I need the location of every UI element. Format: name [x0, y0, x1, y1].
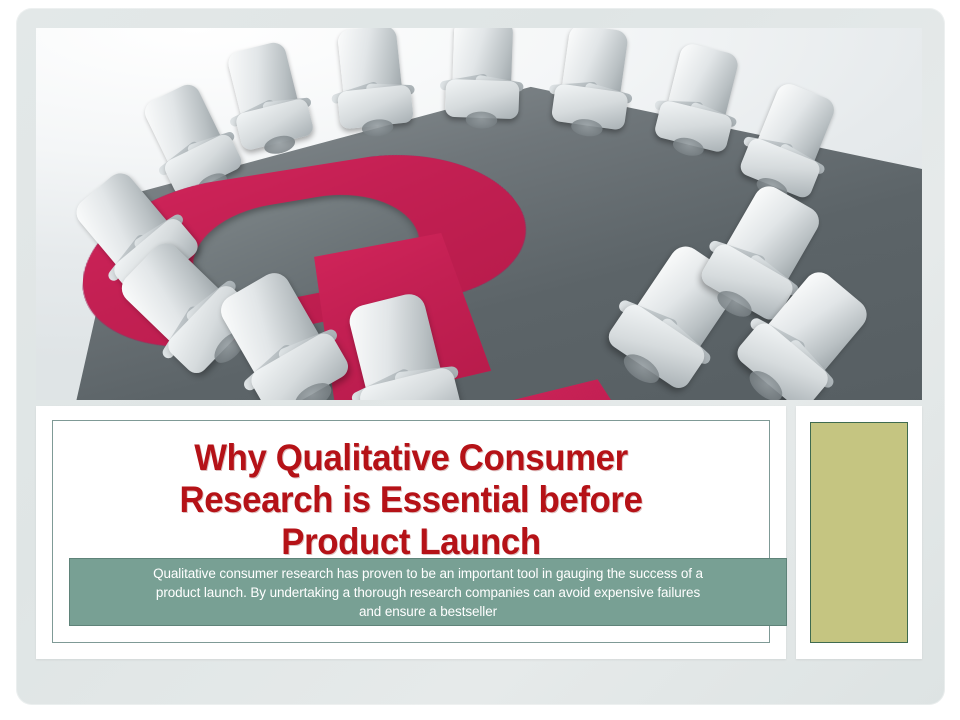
slide-root: Why Qualitative Consumer Research is Ess… [0, 0, 960, 720]
subtitle-line-1: Qualitative consumer research has proven… [153, 564, 703, 583]
boardroom-question-mark-photo [36, 28, 922, 400]
page-title: Why Qualitative Consumer Research is Ess… [74, 437, 747, 563]
title-line-3: Product Launch [74, 521, 747, 563]
office-chair [328, 28, 417, 144]
olive-accent-panel [810, 422, 908, 643]
title-box: Why Qualitative Consumer Research is Ess… [52, 420, 770, 643]
title-line-2: Research is Essential before [74, 479, 747, 521]
side-accent-card [796, 406, 922, 659]
subtitle-text: Qualitative consumer research has proven… [153, 564, 703, 621]
subtitle-line-3: and ensure a bestseller [153, 602, 703, 621]
subtitle-band: Qualitative consumer research has proven… [69, 558, 787, 626]
subtitle-line-2: product launch. By undertaking a thoroug… [153, 583, 703, 602]
title-card: Why Qualitative Consumer Research is Ess… [36, 406, 786, 659]
office-chair [442, 28, 524, 134]
title-line-1: Why Qualitative Consumer [74, 437, 747, 479]
chair-base [465, 111, 497, 129]
